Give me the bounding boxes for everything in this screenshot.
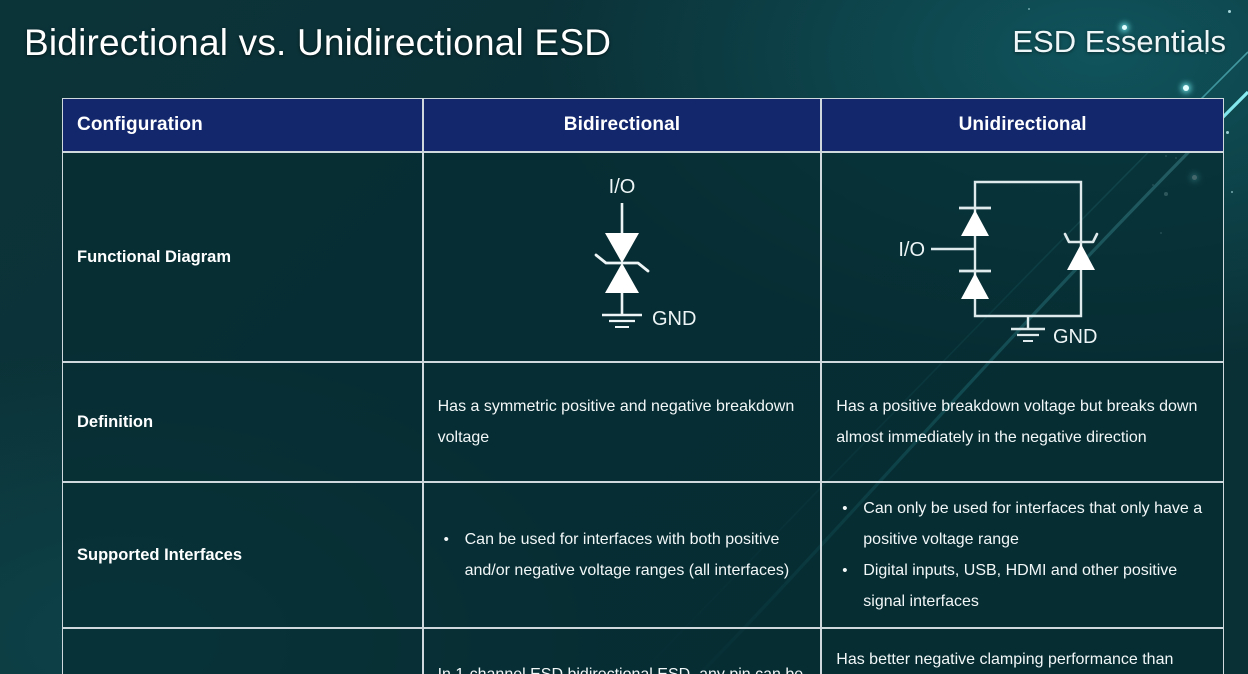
cell-benefits-bidirectional: In 1-channel ESD bidirectional ESD, any … <box>423 628 822 674</box>
unidirectional-gnd-label: GND <box>1053 326 1097 348</box>
table-row: Benefits In 1-channel ESD bidirectional … <box>62 628 1224 674</box>
definition-bidirectional-text: Has a symmetric positive and negative br… <box>438 391 809 453</box>
row-label-benefits: Benefits <box>62 628 423 674</box>
table-body: Functional Diagram <box>62 152 1224 674</box>
page-title: Bidirectional vs. Unidirectional ESD <box>24 22 611 64</box>
bidirectional-io-label: I/O <box>609 176 636 198</box>
table-row: Supported Interfaces Can be used for int… <box>62 482 1224 628</box>
cell-supported-bidirectional: Can be used for interfaces with both pos… <box>423 482 822 628</box>
column-header-unidirectional: Unidirectional <box>821 98 1224 152</box>
bidirectional-gnd-label: GND <box>652 308 696 330</box>
column-header-configuration: Configuration <box>62 98 423 152</box>
cell-supported-unidirectional: Can only be used for interfaces that onl… <box>821 482 1224 628</box>
definition-unidirectional-text: Has a positive breakdown voltage but bre… <box>836 391 1211 453</box>
list-item: Can be used for interfaces with both pos… <box>438 524 809 586</box>
table-header-row: Configuration Bidirectional Unidirection… <box>62 98 1224 152</box>
unidirectional-esd-rail-clamp-circuit-icon: I/O GND <box>883 166 1163 348</box>
title-bar: Bidirectional vs. Unidirectional ESD ESD… <box>18 22 1230 78</box>
row-label-definition: Definition <box>62 362 423 482</box>
row-label-functional-diagram: Functional Diagram <box>62 152 423 362</box>
column-header-bidirectional: Bidirectional <box>423 98 822 152</box>
deck-title: ESD Essentials <box>1012 24 1226 60</box>
bullet-list-bidirectional: Can be used for interfaces with both pos… <box>438 524 809 586</box>
row-label-supported-interfaces: Supported Interfaces <box>62 482 423 628</box>
list-item: Digital inputs, USB, HDMI and other posi… <box>836 555 1211 617</box>
slide-canvas: Bidirectional vs. Unidirectional ESD ESD… <box>0 0 1248 674</box>
table-row: Functional Diagram <box>62 152 1224 362</box>
cell-bidirectional-diagram: I/O GND <box>423 152 822 362</box>
benefits-unidirectional-text: Has better negative clamping performance… <box>836 644 1211 674</box>
cell-definition-unidirectional: Has a positive breakdown voltage but bre… <box>821 362 1224 482</box>
unidirectional-io-label: I/O <box>898 239 925 261</box>
cell-unidirectional-diagram: I/O GND <box>821 152 1224 362</box>
benefits-bidirectional-text: In 1-channel ESD bidirectional ESD, any … <box>438 659 809 674</box>
comparison-table: Configuration Bidirectional Unidirection… <box>62 98 1224 674</box>
cell-benefits-unidirectional: Has better negative clamping performance… <box>821 628 1224 674</box>
cell-definition-bidirectional: Has a symmetric positive and negative br… <box>423 362 822 482</box>
table-row: Definition Has a symmetric positive and … <box>62 362 1224 482</box>
bidirectional-tvs-diode-symbol-icon: I/O GND <box>522 167 722 347</box>
list-item: Can only be used for interfaces that onl… <box>836 493 1211 555</box>
bullet-list-unidirectional: Can only be used for interfaces that onl… <box>836 493 1211 617</box>
table-header: Configuration Bidirectional Unidirection… <box>62 98 1224 152</box>
